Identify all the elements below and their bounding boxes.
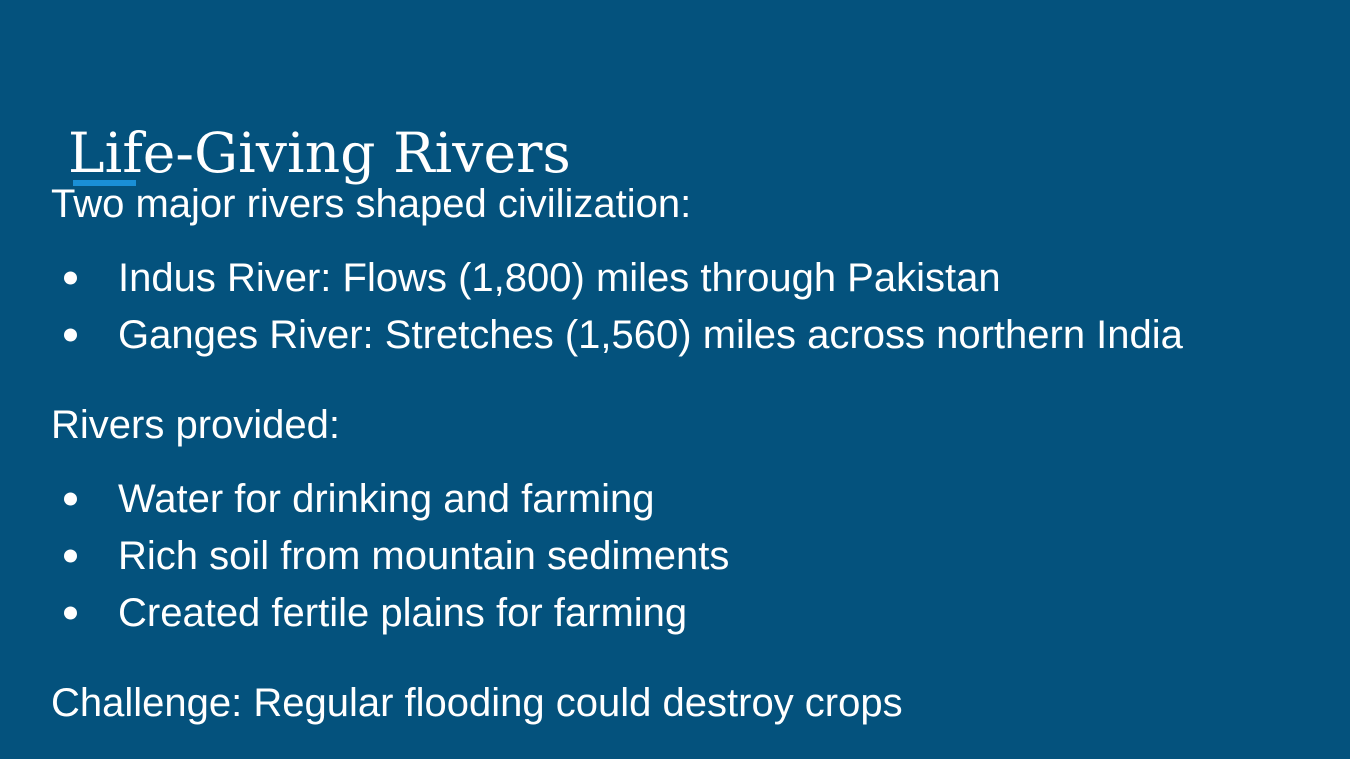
lead-in-text: Two major rivers shaped civilization: <box>51 184 1321 224</box>
provided-heading: Rivers provided: <box>51 405 1321 445</box>
bullet-dot-icon <box>64 550 77 563</box>
slide-body: Two major rivers shaped civilization: In… <box>51 184 1321 723</box>
list-item-label: Rich soil from mountain sediments <box>118 534 729 578</box>
challenge-text: Challenge: Regular flooding could destro… <box>51 683 1321 723</box>
list-item-label: Indus River: Flows (1,800) miles through… <box>118 256 1001 300</box>
rivers-bullet-list: Indus River: Flows (1,800) miles through… <box>51 258 1321 355</box>
list-item-label: Water for drinking and farming <box>118 477 655 521</box>
list-item: Water for drinking and farming <box>51 479 1321 519</box>
list-item: Rich soil from mountain sediments <box>51 536 1321 576</box>
presentation-slide: Life-Giving Rivers Two major rivers shap… <box>0 0 1350 759</box>
bullet-dot-icon <box>64 607 77 620</box>
bullet-dot-icon <box>64 329 77 342</box>
bullet-dot-icon <box>64 272 77 285</box>
bullet-dot-icon <box>64 493 77 506</box>
list-item-label: Ganges River: Stretches (1,560) miles ac… <box>118 313 1183 357</box>
slide-title: Life-Giving Rivers <box>68 125 571 183</box>
list-item-label: Created fertile plains for farming <box>118 591 687 635</box>
list-item: Indus River: Flows (1,800) miles through… <box>51 258 1321 298</box>
list-item: Created fertile plains for farming <box>51 593 1321 633</box>
provided-bullet-list: Water for drinking and farming Rich soil… <box>51 479 1321 633</box>
list-item: Ganges River: Stretches (1,560) miles ac… <box>51 315 1321 355</box>
